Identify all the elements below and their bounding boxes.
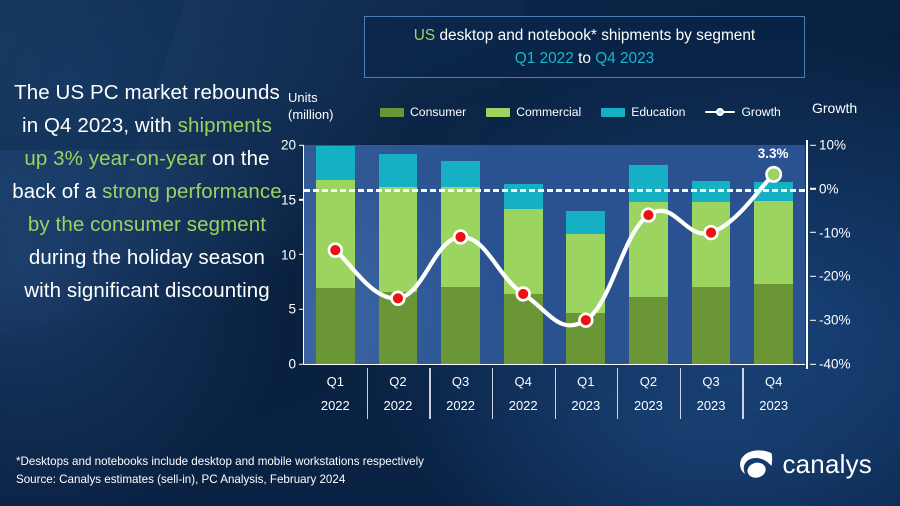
y-axis-tick-label: 15 [281, 192, 296, 207]
x-axis-year-label: 2022 [321, 398, 350, 413]
chart-title-line-1: US desktop and notebook* shipments by se… [414, 24, 755, 47]
x-axis-quarter-label: Q1 [327, 374, 344, 389]
footnote-line-1: *Desktops and notebooks include desktop … [16, 453, 424, 471]
x-axis-category[interactable]: Q42022 [492, 365, 555, 422]
y-axis-tick-label: 0 [288, 357, 296, 372]
narrative-plain: during the holiday season with significa… [24, 246, 270, 302]
x-axis-category[interactable]: Q12023 [555, 365, 618, 422]
y-axis-tick-label: 10 [281, 247, 296, 262]
x-axis-category[interactable]: Q32022 [429, 365, 492, 422]
canalys-logo-mark [739, 450, 773, 480]
x-axis-quarter-label: Q2 [640, 374, 657, 389]
y2-axis-tick-label: -10% [819, 225, 851, 240]
y2-axis-line [806, 140, 808, 369]
x-axis-category[interactable]: Q22023 [617, 365, 680, 422]
x-axis-quarter-label: Q3 [452, 374, 469, 389]
x-axis-year-label: 2023 [697, 398, 726, 413]
growth-data-point[interactable] [705, 226, 718, 239]
footnote: *Desktops and notebooks include desktop … [16, 453, 424, 488]
chart-title-box: US desktop and notebook* shipments by se… [364, 16, 805, 78]
title-line-1-rest: desktop and notebook* shipments by segme… [435, 27, 755, 44]
footnote-line-2: Source: Canalys estimates (sell-in), PC … [16, 471, 424, 489]
x-axis-quarter-label: Q4 [765, 374, 782, 389]
x-axis-year-label: 2022 [509, 398, 538, 413]
x-axis-category[interactable]: Q22022 [367, 365, 430, 422]
growth-data-point[interactable] [579, 314, 592, 327]
growth-data-point[interactable] [517, 288, 530, 301]
y2-axis-tick-label: -20% [819, 269, 851, 284]
narrative-text: The US PC market rebounds in Q4 2023, wi… [8, 76, 286, 307]
x-axis-year-label: 2022 [383, 398, 412, 413]
x-axis-category[interactable]: Q42023 [742, 365, 805, 422]
title-region: US [414, 27, 435, 44]
x-axis-year-label: 2023 [571, 398, 600, 413]
canalys-logo: canalys [739, 449, 872, 480]
plot-area: 05101520 [304, 145, 805, 364]
y2-axis: -40%-30%-20%-10%0%10% [806, 140, 886, 369]
growth-data-point[interactable] [392, 292, 405, 305]
x-axis-year-label: 2023 [634, 398, 663, 413]
x-axis-year-label: 2022 [446, 398, 475, 413]
y2-axis-caption: Growth [812, 100, 857, 116]
y2-axis-tick-label: -30% [819, 313, 851, 328]
growth-data-point[interactable] [642, 209, 655, 222]
slide-root: The US PC market rebounds in Q4 2023, wi… [0, 0, 900, 506]
title-period-sep: to [574, 50, 595, 67]
growth-data-point[interactable] [454, 231, 467, 244]
growth-data-label-last: 3.3% [758, 146, 789, 161]
x-axis-quarter-label: Q4 [515, 374, 532, 389]
x-axis-category[interactable]: Q12022 [304, 365, 367, 422]
title-period-start: Q1 2022 [515, 50, 574, 67]
y-axis-tick-label: 5 [288, 302, 296, 317]
y-axis-tick-label: 20 [281, 138, 296, 153]
x-axis-quarter-label: Q2 [389, 374, 406, 389]
y2-axis-tick-label: 10% [819, 138, 846, 153]
y2-axis-tick-label: -40% [819, 357, 851, 372]
y2-axis-tick-label: 0% [819, 181, 839, 196]
x-axis-category[interactable]: Q32023 [680, 365, 743, 422]
chart-title-line-2: Q1 2022 to Q4 2023 [515, 47, 654, 70]
x-axis: Q12022Q22022Q32022Q42022Q12023Q22023Q320… [304, 364, 805, 422]
growth-data-point[interactable] [329, 244, 342, 257]
x-axis-quarter-label: Q3 [702, 374, 719, 389]
x-axis-year-label: 2023 [759, 398, 788, 413]
growth-line-chart [304, 100, 805, 364]
growth-data-point[interactable] [766, 167, 780, 181]
x-axis-quarter-label: Q1 [577, 374, 594, 389]
title-period-end: Q4 2023 [595, 50, 654, 67]
canalys-logo-text: canalys [782, 449, 872, 480]
